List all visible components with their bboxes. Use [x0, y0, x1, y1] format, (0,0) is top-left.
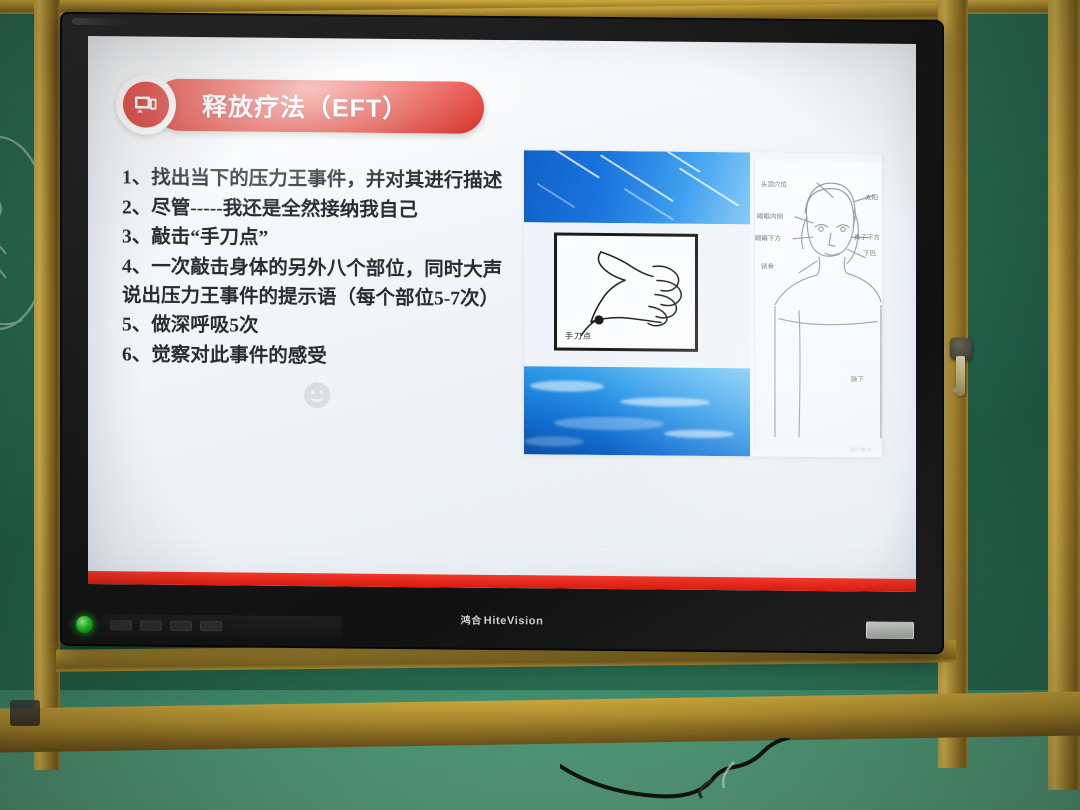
bezel-highlight: [72, 18, 132, 26]
acupoint-label: 眼睛下方: [755, 232, 781, 242]
display-bezel: 释放疗法（EFT） 1、找出当下的压力王事件，并对其进行描述 2、尽管-----…: [62, 14, 942, 652]
slide-title-group: 释放疗法（EFT）: [116, 76, 484, 136]
acupoint-label: 眼眶内侧: [757, 210, 783, 220]
smiley-face-icon: [304, 382, 330, 408]
hand-diagram-label: 手刀点: [565, 331, 592, 342]
brand-name-en: HiteVision: [484, 615, 544, 628]
acupoint-label: 太阳: [865, 191, 878, 201]
acupoint-diagram: 头顶穴位 太阳 眼眶内侧 眼睛下方 鼻子下方 下巴 锁骨 腋下: [754, 160, 882, 451]
water-photo: [524, 366, 750, 456]
list-item: 2、尽管-----我还是全然接纳我自己: [122, 194, 512, 226]
cabinet-key[interactable]: [956, 356, 965, 396]
sky-photo: [524, 150, 750, 224]
list-item: 1、找出当下的压力王事件，并对其进行描述: [122, 164, 512, 196]
acupoint-label: 腋下: [851, 373, 864, 383]
illustration-watermark: 图片素材: [850, 446, 872, 453]
acupoint-label: 头顶穴位: [761, 178, 787, 188]
list-item: 6、觉察对此事件的感受: [122, 341, 512, 373]
page-title: 释放疗法（EFT）: [202, 87, 408, 125]
presentation-screen[interactable]: 释放疗法（EFT） 1、找出当下的压力王事件，并对其进行描述 2、尽管-----…: [88, 36, 916, 592]
acupoint-label: 锁骨: [761, 260, 774, 270]
list-item: 4、一次敲击身体的另外八个部位，同时大声说出压力王事件的提示语（每个部位5-7次…: [122, 253, 512, 314]
list-item: 3、敲击“手刀点”: [122, 224, 512, 256]
interactive-flat-panel[interactable]: 释放疗法（EFT） 1、找出当下的压力王事件，并对其进行描述 2、尽管-----…: [62, 14, 942, 652]
hand-diagram: 手刀点: [554, 232, 698, 351]
classroom-scene: 释放疗法（EFT） 1、找出当下的压力王事件，并对其进行描述 2、尽管-----…: [0, 0, 1080, 810]
presentation-icon: [123, 81, 169, 127]
acupoint-label: 下巴: [863, 247, 876, 257]
slide-body-list: 1、找出当下的压力王事件，并对其进行描述 2、尽管-----我还是全然接纳我自己…: [122, 164, 512, 374]
slide-accent-bar: [88, 571, 916, 592]
spec-sticker: [866, 621, 914, 638]
list-item: 5、做深呼吸5次: [122, 312, 512, 344]
wall-outlet-plate: [10, 700, 40, 726]
slide-title-pill: 释放疗法（EFT）: [154, 79, 484, 134]
slide-illustration: 手刀点: [524, 150, 882, 457]
acupoint-label: 鼻子下方: [854, 231, 880, 241]
board-frame-far-right: [1048, 0, 1080, 790]
brand-name-cn: 鸿合: [461, 616, 482, 627]
slide-title-badge: [116, 74, 176, 135]
